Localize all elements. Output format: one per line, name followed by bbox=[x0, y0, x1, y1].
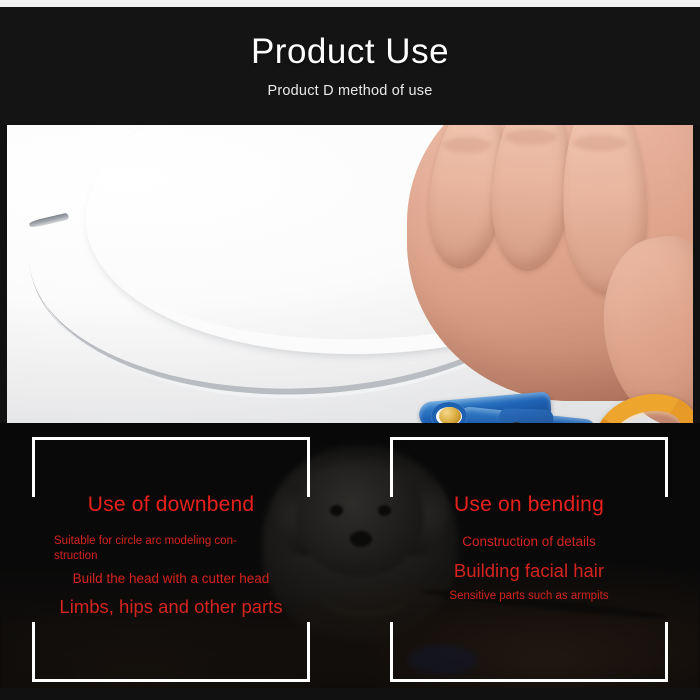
knuckle-crease-2 bbox=[505, 129, 557, 145]
feature-title: Use of downbend bbox=[88, 493, 254, 517]
bottom-bar bbox=[0, 688, 700, 700]
feature-panel-bending: Use on bending Construction of details B… bbox=[390, 437, 668, 682]
feature-panel-content: Use of downbend Suitable for circle arc … bbox=[32, 493, 310, 618]
bracket-bottom-edge bbox=[32, 679, 310, 682]
tension-screw-gold bbox=[439, 407, 461, 423]
product-use-banner: Product Use Product D method of use bbox=[0, 0, 700, 700]
bracket-corner-top-right bbox=[665, 437, 668, 497]
bracket-corner-bottom-left bbox=[390, 622, 393, 682]
knuckle-crease-1 bbox=[443, 137, 491, 153]
feature-line: Construction of details bbox=[462, 534, 596, 551]
bracket-top-edge bbox=[390, 437, 668, 440]
bracket-corner-bottom-left bbox=[32, 622, 35, 682]
feature-title: Use on bending bbox=[454, 493, 604, 517]
bracket-corner-top-left bbox=[32, 437, 35, 497]
page-subtitle: Product D method of use bbox=[268, 83, 433, 99]
feature-line: Building facial hair bbox=[454, 559, 604, 582]
feature-panel-content: Use on bending Construction of details B… bbox=[390, 493, 668, 604]
feature-panel-downbend: Use of downbend Suitable for circle arc … bbox=[32, 437, 310, 682]
bracket-corner-top-left bbox=[390, 437, 393, 497]
top-accent-strip bbox=[0, 0, 700, 7]
pivot-plate bbox=[498, 408, 553, 423]
page-title: Product Use bbox=[251, 33, 449, 72]
bracket-bottom-edge bbox=[390, 679, 668, 682]
hero-product-photo bbox=[7, 125, 693, 423]
bracket-top-edge bbox=[32, 437, 310, 440]
header: Product Use Product D method of use bbox=[0, 7, 700, 125]
feature-line: Build the head with a cutter head bbox=[73, 571, 270, 588]
knuckle-crease-3 bbox=[573, 135, 627, 151]
bracket-corner-bottom-right bbox=[665, 622, 668, 682]
bracket-corner-bottom-right bbox=[307, 622, 310, 682]
feature-line: struction bbox=[46, 549, 296, 563]
bracket-corner-top-right bbox=[307, 437, 310, 497]
feature-line: Sensitive parts such as armpits bbox=[449, 589, 608, 603]
feature-line: Limbs, hips and other parts bbox=[59, 595, 282, 618]
feature-line: Suitable for circle arc modeling con- bbox=[46, 534, 296, 548]
